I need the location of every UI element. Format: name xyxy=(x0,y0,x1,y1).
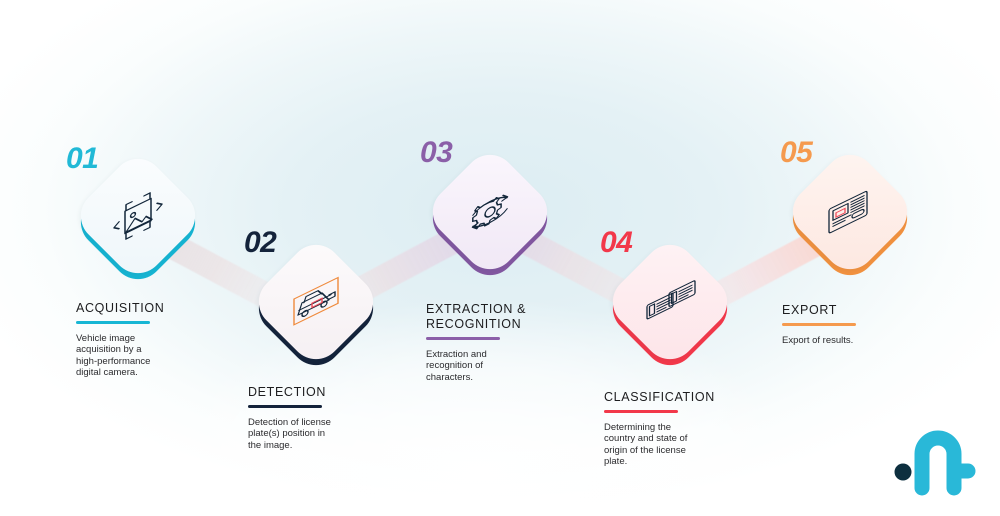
caption-body-02: Detection of license plate(s) position i… xyxy=(248,417,398,452)
caption-rule-04 xyxy=(604,410,678,413)
step-node-02[interactable]: 02 xyxy=(268,254,364,350)
caption-body-04: Determining the country and state of ori… xyxy=(604,422,754,468)
caption-body-03: Extraction and recognition of characters… xyxy=(426,349,576,384)
car-detection-box-icon xyxy=(268,254,364,350)
caption-title-01: ACQUISITION xyxy=(76,301,226,316)
image-frame-icon xyxy=(90,168,186,264)
caption-body-05: Export of results. xyxy=(782,335,932,347)
caption-rule-05 xyxy=(782,323,856,326)
license-plates-icon xyxy=(622,254,718,350)
gear-refresh-icon xyxy=(442,164,538,260)
step-node-05[interactable]: 05 xyxy=(802,164,898,260)
caption-body-01: Vehicle image acquisition by a high-perf… xyxy=(76,333,226,379)
caption-03: EXTRACTION & RECOGNITION Extraction and … xyxy=(426,302,576,383)
caption-rule-01 xyxy=(76,321,150,324)
caption-04: CLASSIFICATION Determining the country a… xyxy=(604,390,754,468)
step-number-04: 04 xyxy=(600,228,632,258)
caption-01: ACQUISITION Vehicle image acquisition by… xyxy=(76,301,226,379)
step-number-02: 02 xyxy=(244,228,276,258)
logo-dot xyxy=(895,464,912,481)
caption-rule-03 xyxy=(426,337,500,340)
step-number-05: 05 xyxy=(780,138,812,168)
logo-arch xyxy=(922,438,954,488)
caption-title-03: EXTRACTION & RECOGNITION xyxy=(426,302,576,332)
step-node-01[interactable]: 01 xyxy=(90,168,186,264)
caption-05: EXPORT Export of results. xyxy=(782,303,932,346)
caption-title-02: DETECTION xyxy=(248,385,398,400)
step-number-03: 03 xyxy=(420,138,452,168)
step-node-04[interactable]: 04 xyxy=(622,254,718,350)
caption-02: DETECTION Detection of license plate(s) … xyxy=(248,385,398,451)
report-document-icon xyxy=(802,164,898,260)
caption-rule-02 xyxy=(248,405,322,408)
caption-title-04: CLASSIFICATION xyxy=(604,390,754,405)
caption-title-05: EXPORT xyxy=(782,303,932,318)
step-number-01: 01 xyxy=(66,144,98,174)
infographic-canvas: 01 ACQUISITION Vehicle image acquisition… xyxy=(0,0,1000,516)
brand-logo xyxy=(890,424,986,500)
step-node-03[interactable]: 03 xyxy=(442,164,538,260)
